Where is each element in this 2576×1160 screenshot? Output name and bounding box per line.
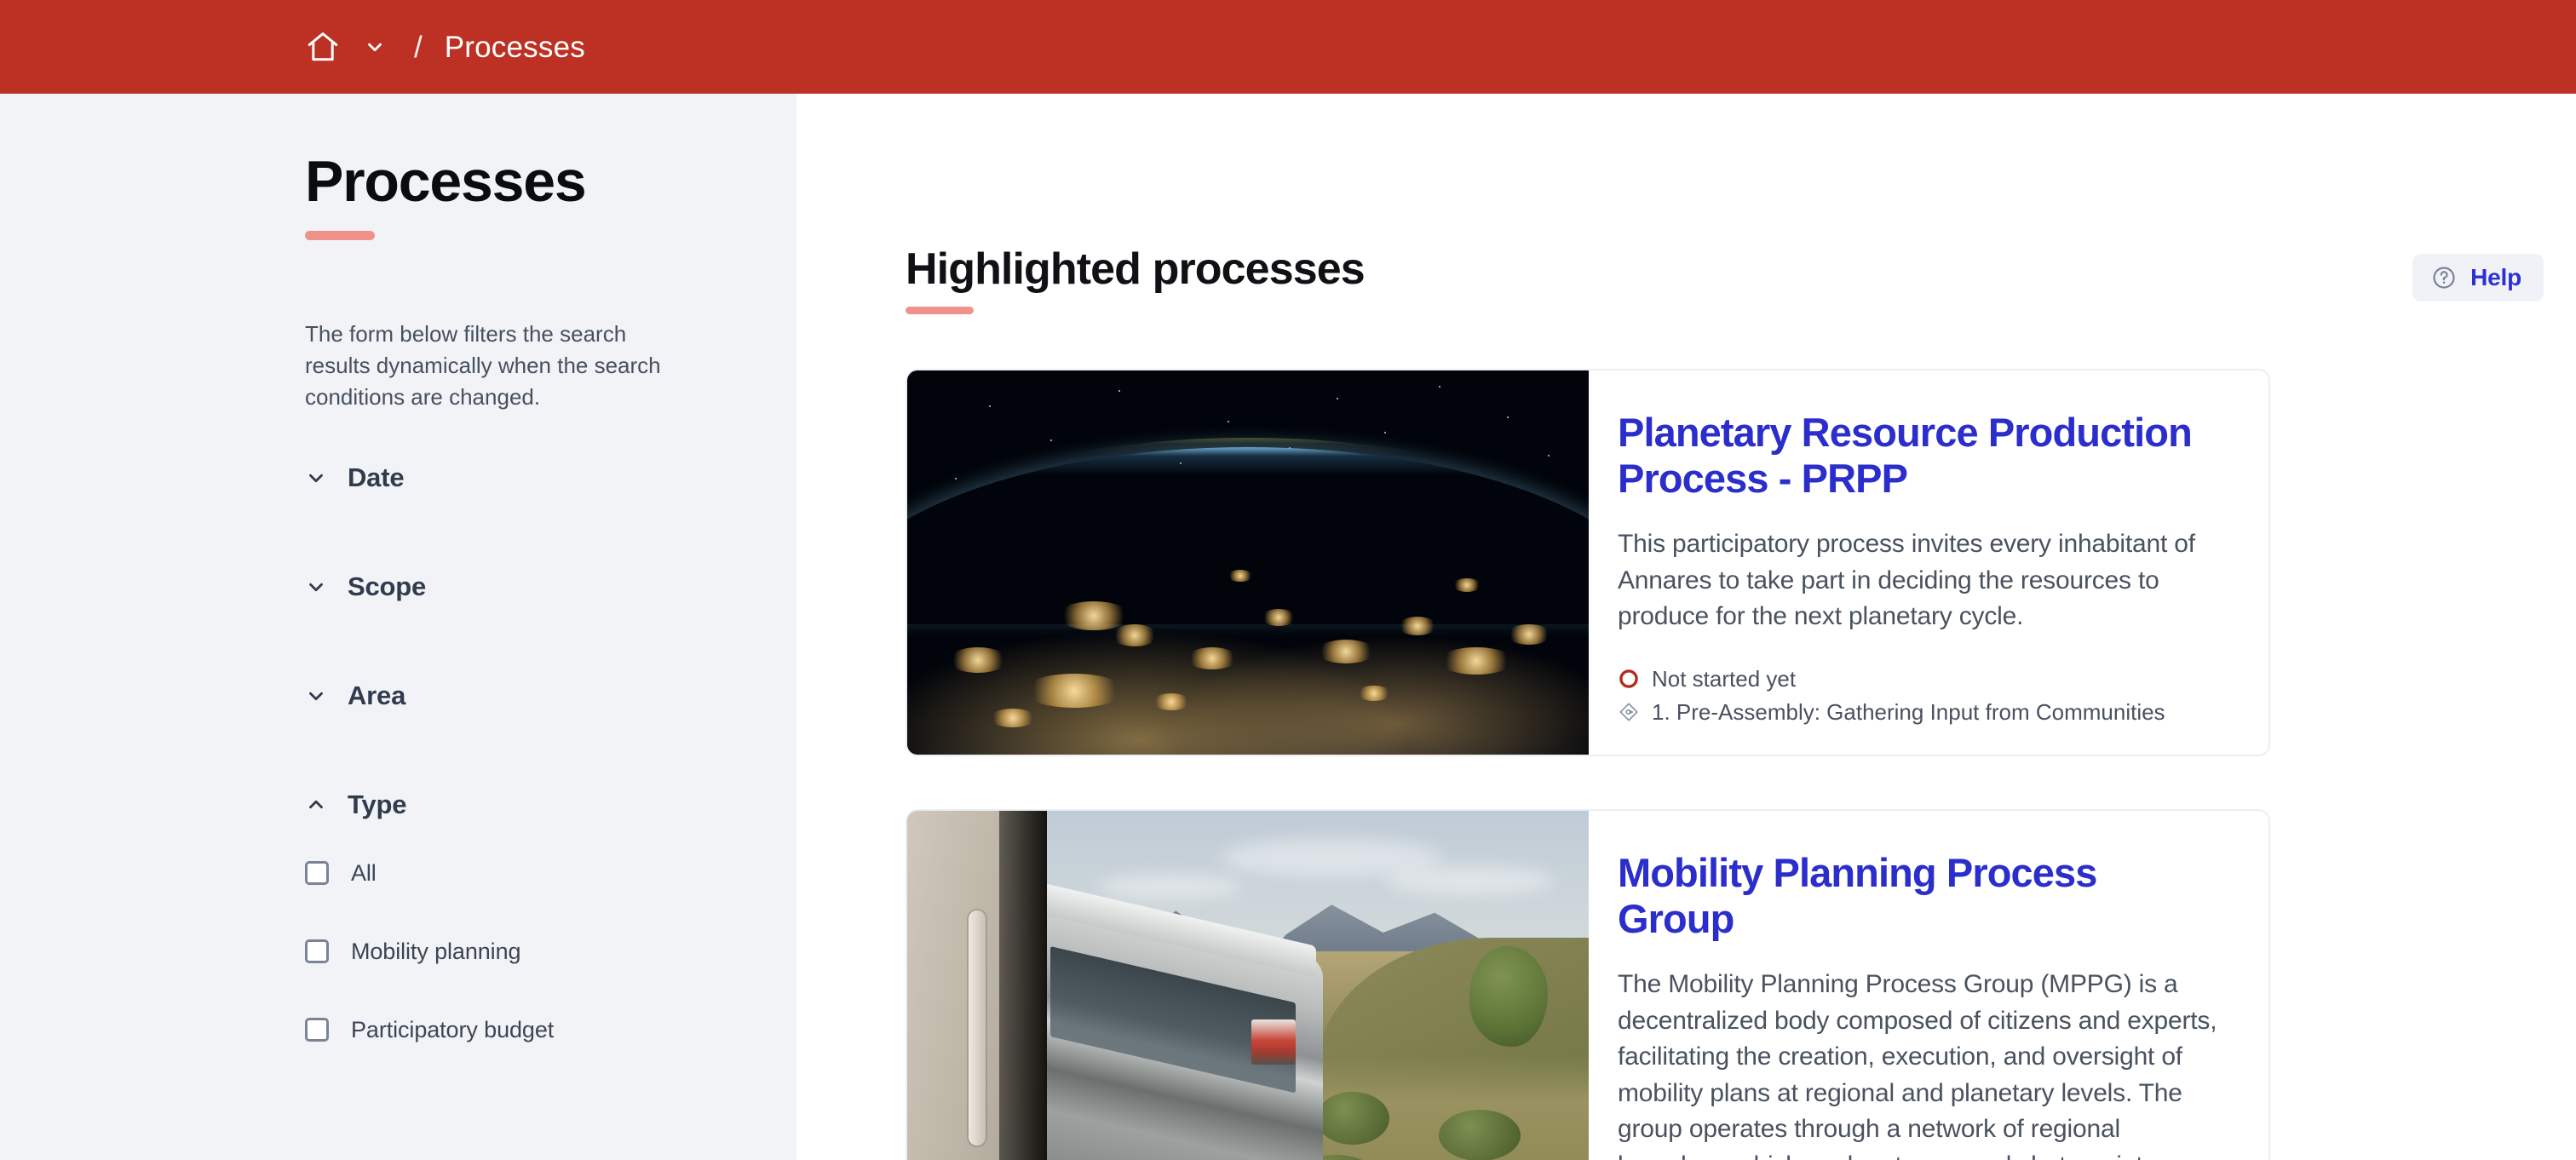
filter-section-label: Date	[348, 462, 404, 493]
checkbox-label: Participatory budget	[351, 1017, 554, 1043]
process-card-description: This participatory process invites every…	[1618, 526, 2222, 635]
process-card[interactable]: Mobility Planning Process Group The Mobi…	[906, 809, 2270, 1160]
section-title-underline	[906, 307, 974, 314]
filter-section-date[interactable]: Date	[305, 452, 745, 503]
bush	[1316, 1092, 1389, 1145]
process-card-title[interactable]: Mobility Planning Process Group	[1618, 850, 2222, 941]
filter-accordion: Date Scope Area	[305, 452, 745, 1054]
help-label: Help	[2470, 264, 2521, 291]
chevron-down-icon	[305, 576, 327, 598]
page-title-underline	[305, 231, 375, 240]
checkbox-row-participatory-budget[interactable]: Participatory budget	[305, 1006, 745, 1054]
city-lights	[907, 370, 1589, 755]
filters-sidebar: Processes The form below filters the sea…	[0, 94, 796, 1160]
top-navigation-bar: / Processes	[0, 0, 2576, 94]
checkbox-label: All	[351, 860, 377, 887]
cloud	[1384, 865, 1555, 896]
process-status: Not started yet	[1618, 666, 2222, 692]
process-phase-label: 1. Pre-Assembly: Gathering Input from Co…	[1652, 699, 2165, 726]
phase-diamond-icon	[1618, 701, 1640, 723]
train-valley-illustration	[907, 811, 1589, 1160]
process-card-title[interactable]: Planetary Resource Production Process - …	[1618, 410, 2222, 501]
chevron-down-icon	[305, 685, 327, 707]
process-card[interactable]: Planetary Resource Production Process - …	[906, 369, 2270, 756]
filter-section-label: Scope	[348, 571, 426, 602]
chevron-down-icon	[305, 467, 327, 489]
main-content: Help Highlighted processes	[796, 94, 2576, 1160]
filter-section-label: Type	[348, 790, 406, 820]
process-status-label: Not started yet	[1652, 666, 1796, 692]
breadcrumb-separator: /	[414, 32, 423, 62]
process-card-image	[907, 811, 1589, 1160]
checkbox-box[interactable]	[305, 861, 329, 885]
bush	[1439, 1110, 1521, 1160]
earth-at-night-illustration	[907, 370, 1589, 755]
question-circle-icon	[2431, 265, 2457, 290]
locomotive	[1251, 1019, 1296, 1065]
process-card-image	[907, 370, 1589, 755]
process-card-body: Planetary Resource Production Process - …	[1589, 370, 2268, 755]
help-button[interactable]: Help	[2412, 254, 2544, 301]
carriage-handle	[969, 910, 986, 1146]
filter-description: The form below filters the search result…	[305, 319, 684, 413]
checkbox-box[interactable]	[305, 1018, 329, 1042]
page-title: Processes	[305, 152, 745, 212]
process-phase: 1. Pre-Assembly: Gathering Input from Co…	[1618, 699, 2222, 726]
process-card-description: The Mobility Planning Process Group (MPP…	[1618, 967, 2222, 1160]
filter-section-scope[interactable]: Scope	[305, 561, 745, 612]
page-body: Processes The form below filters the sea…	[0, 94, 2576, 1160]
checkbox-row-mobility-planning[interactable]: Mobility planning	[305, 927, 745, 975]
process-card-list: Planetary Resource Production Process - …	[906, 369, 2576, 1160]
tree	[1469, 946, 1548, 1047]
filter-section-area[interactable]: Area	[305, 670, 745, 721]
chevron-up-icon	[305, 794, 327, 816]
processes-content: Highlighted processes	[796, 94, 2576, 1160]
checkbox-label: Mobility planning	[351, 939, 520, 965]
status-circle-icon	[1618, 668, 1640, 690]
filter-section-label: Area	[348, 680, 405, 711]
process-card-body: Mobility Planning Process Group The Mobi…	[1589, 811, 2268, 1160]
help-area: Help	[2412, 254, 2544, 301]
type-filter-options: All Mobility planning Participatory budg…	[305, 849, 745, 1054]
breadcrumb-dropdown-toggle[interactable]	[354, 26, 395, 67]
filter-section-type[interactable]: Type	[305, 779, 745, 830]
checkbox-row-all[interactable]: All	[305, 849, 745, 897]
section-title: Highlighted processes	[906, 247, 2576, 291]
breadcrumb-current: Processes	[445, 32, 585, 62]
home-icon[interactable]	[305, 29, 341, 65]
checkbox-box[interactable]	[305, 939, 329, 963]
process-card-meta: Not started yet 1.	[1618, 635, 2222, 726]
chevron-down-icon	[364, 36, 386, 58]
